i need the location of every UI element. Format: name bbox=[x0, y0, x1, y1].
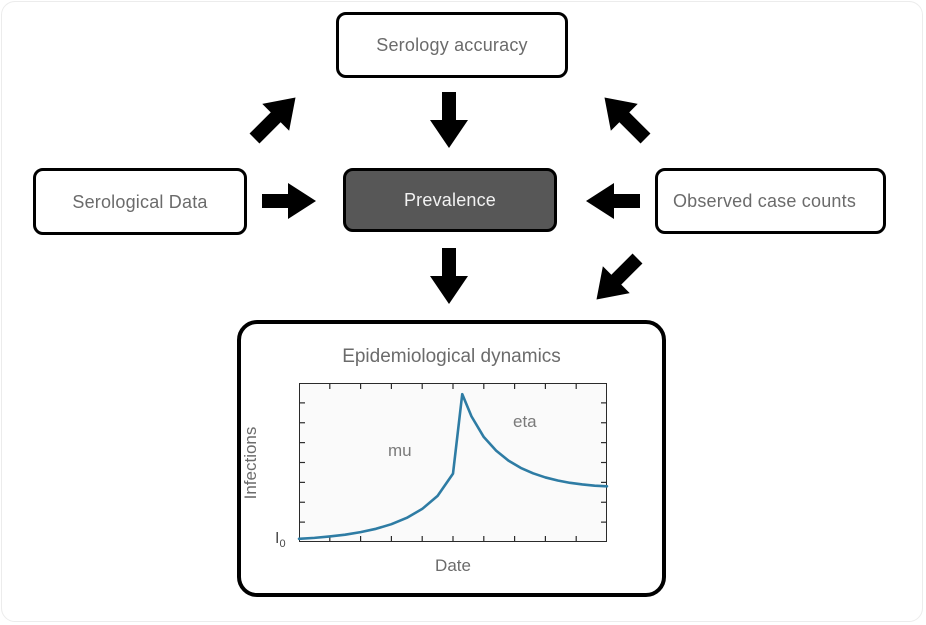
arrow-left-observed-case-counts-to-prevalence bbox=[586, 183, 640, 219]
arrow-up-left-observed-case-counts-to-serology-accuracy bbox=[596, 89, 654, 147]
arrow-right-serological-data-to-prevalence bbox=[262, 183, 316, 219]
x-axis-ticks-top bbox=[330, 383, 576, 389]
node-serology-accuracy-label: Serology accuracy bbox=[376, 36, 527, 54]
node-prevalence-label: Prevalence bbox=[404, 191, 496, 209]
node-serological-data-label: Serological Data bbox=[72, 193, 207, 211]
y-axis-origin-tick-subscript: 0 bbox=[279, 538, 285, 550]
infections-curve bbox=[299, 394, 607, 539]
diagram-canvas: Serology accuracy Serological Data Preva… bbox=[0, 0, 926, 625]
node-serology-accuracy[interactable]: Serology accuracy bbox=[336, 12, 568, 78]
node-observed-case-counts[interactable]: Observed case counts bbox=[655, 168, 886, 234]
plot-svg bbox=[299, 383, 607, 542]
x-axis-label: Date bbox=[435, 556, 471, 576]
panel-title: Epidemiological dynamics bbox=[241, 346, 662, 368]
x-axis-ticks bbox=[330, 536, 576, 542]
y-axis-ticks-right bbox=[601, 403, 607, 522]
arrow-down-serology-accuracy-to-prevalence bbox=[430, 92, 468, 148]
arrow-down-prevalence-to-epidemiological-dynamics bbox=[430, 248, 468, 304]
curve-annotation-eta: eta bbox=[513, 412, 537, 432]
panel-epidemiological-dynamics[interactable]: Epidemiological dynamics Infections Date… bbox=[237, 320, 666, 597]
y-axis-origin-tick-label: I0 bbox=[275, 530, 286, 550]
node-prevalence[interactable]: Prevalence bbox=[343, 168, 557, 232]
y-axis-label: Infections bbox=[241, 426, 261, 499]
infections-over-time-chart: Infections Date I0 mu eta bbox=[299, 383, 607, 542]
node-observed-case-counts-label: Observed case counts bbox=[673, 192, 856, 210]
arrow-down-left-observed-case-counts-to-epidemiological-dynamics bbox=[588, 250, 646, 308]
node-serological-data[interactable]: Serological Data bbox=[33, 168, 247, 235]
arrow-up-right-serological-data-to-serology-accuracy bbox=[246, 89, 304, 147]
curve-annotation-mu: mu bbox=[388, 441, 412, 461]
y-axis-ticks bbox=[299, 403, 305, 522]
